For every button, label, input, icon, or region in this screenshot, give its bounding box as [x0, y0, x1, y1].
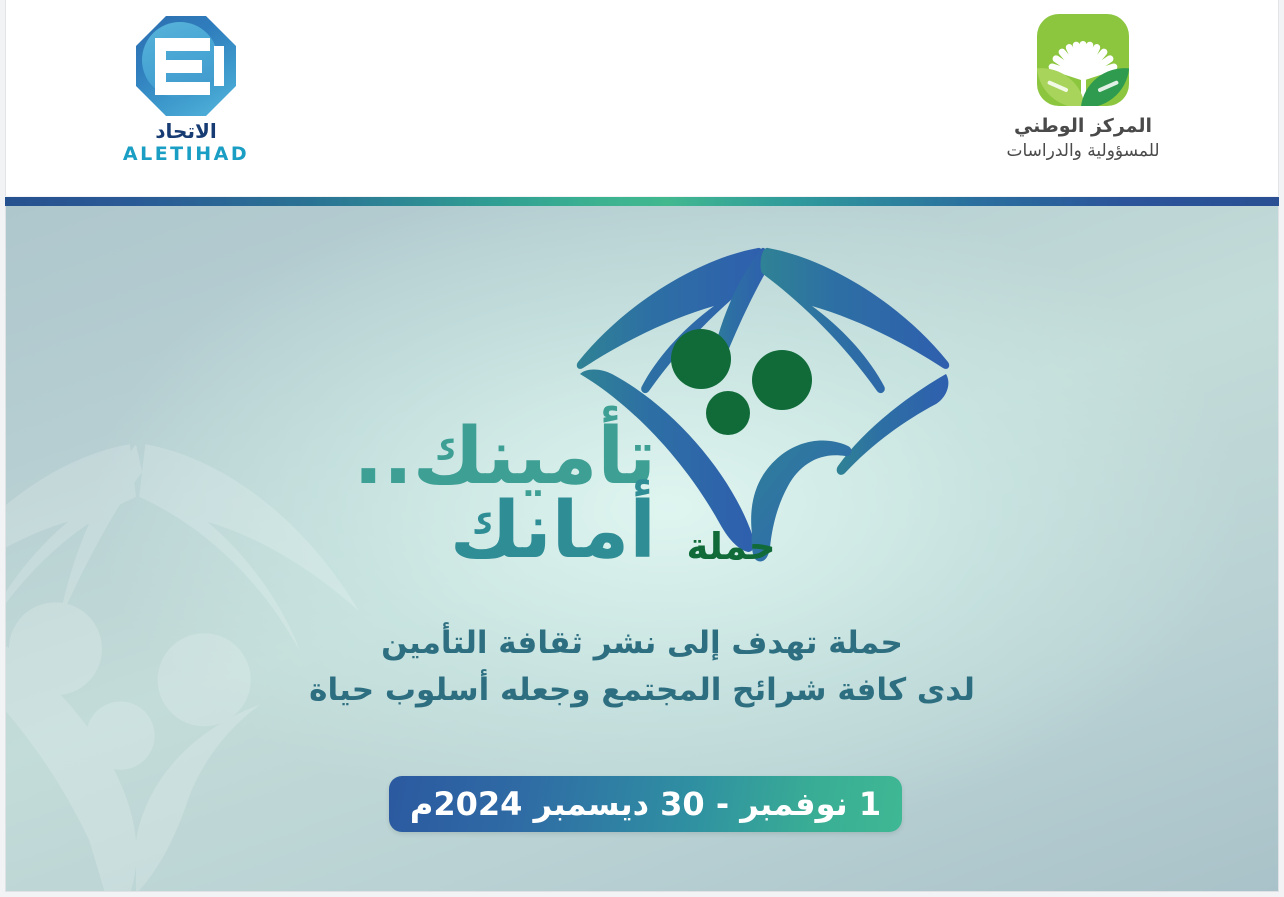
date-badge-text: 1 نوفمبر - 30 ديسمبر 2024م: [410, 785, 881, 823]
headline-line-2: أمانك: [336, 492, 656, 572]
aletihad-arabic-name: الاتحاد: [96, 120, 276, 143]
national-center-name-line2: للمسؤولية والدراسات: [968, 140, 1198, 163]
aletihad-octagon-e-icon: [136, 16, 236, 116]
header-bar: الاتحاد ALETIHAD: [5, 0, 1279, 196]
campaign-subtitle: حملة تهدف إلى نشر ثقافة التأمين لدى كافة…: [6, 620, 1278, 713]
leaf-vein: [1097, 80, 1119, 93]
aletihad-latin-name: ALETIHAD: [96, 143, 276, 166]
letter-i-mark: [214, 46, 224, 86]
green-dot-small: [706, 391, 750, 435]
campaign-banner: حملة تأمينك.. أمانك حملة تهدف إلى نشر ثق…: [5, 206, 1279, 892]
aletihad-logo[interactable]: الاتحاد ALETIHAD: [96, 16, 276, 181]
umbrella-canopy-right: [837, 374, 949, 475]
letter-e-bottom-bar: [162, 82, 210, 95]
national-center-name-line1: المركز الوطني: [968, 114, 1198, 140]
palm-leaf-icon: [1037, 14, 1129, 106]
letter-e-middle-bar: [162, 60, 202, 73]
leaf-vein: [1047, 80, 1069, 93]
umbrella-caption: حملة: [671, 528, 791, 565]
letter-e-top-bar: [162, 38, 210, 51]
green-dot-right: [752, 350, 812, 410]
campaign-date-badge[interactable]: 1 نوفمبر - 30 ديسمبر 2024م: [389, 776, 902, 832]
gradient-divider-bar: [5, 197, 1279, 206]
national-center-logo[interactable]: المركز الوطني للمسؤولية والدراسات: [968, 14, 1198, 184]
campaign-headline: تأمينك.. أمانك: [336, 418, 656, 571]
subtitle-line-2: لدى كافة شرائح المجتمع وجعله أسلوب حياة: [6, 667, 1278, 714]
green-dot-left: [671, 329, 731, 389]
subtitle-line-1: حملة تهدف إلى نشر ثقافة التأمين: [6, 620, 1278, 667]
banner-page: الاتحاد ALETIHAD: [0, 0, 1284, 897]
